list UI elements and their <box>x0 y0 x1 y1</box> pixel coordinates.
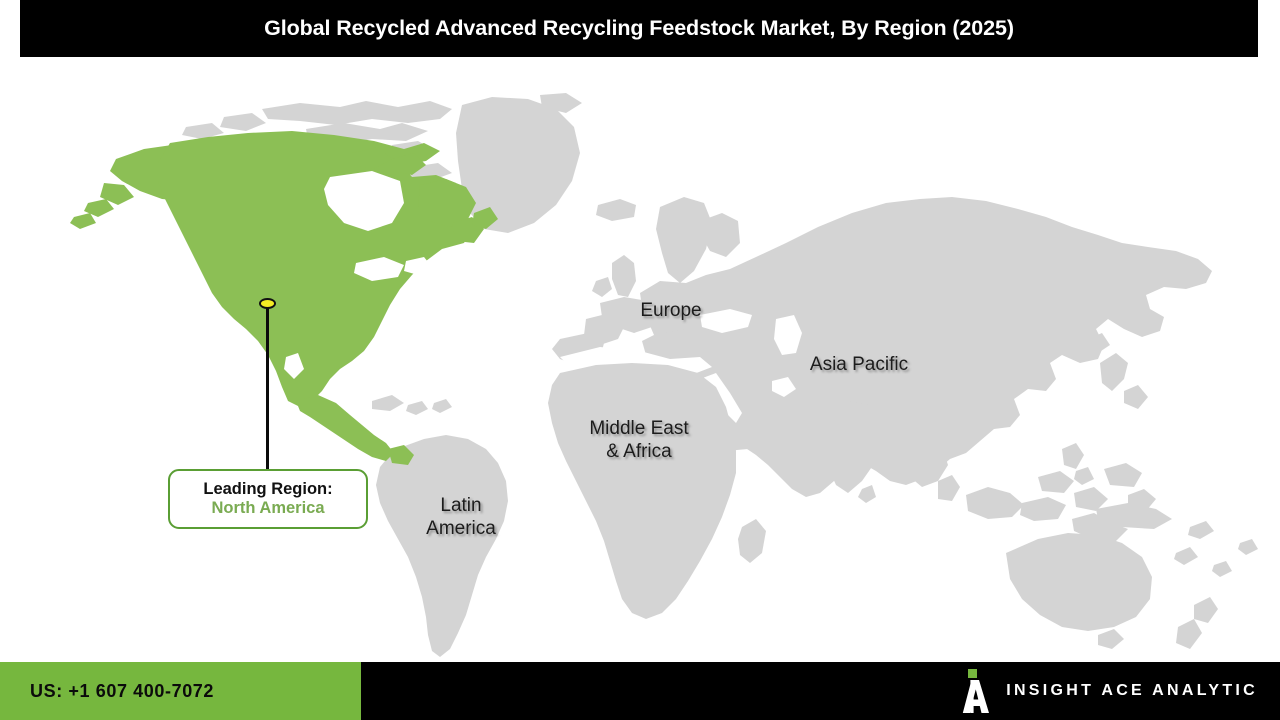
footer-phone-number: US: +1 607 400-7072 <box>30 681 214 702</box>
brand-name: INSIGHT ACE ANALYTIC <box>1006 682 1258 700</box>
page-title: Global Recycled Advanced Recycling Feeds… <box>264 16 1014 41</box>
map-pin-icon <box>259 298 276 309</box>
callout-value: North America <box>211 499 324 518</box>
logo-accent-square-icon <box>968 669 977 678</box>
title-bar: Global Recycled Advanced Recycling Feeds… <box>20 0 1258 57</box>
brand-lockup: INSIGHT ACE ANALYTIC <box>962 662 1258 720</box>
callout-connector-line <box>266 305 269 471</box>
callout-title: Leading Region: <box>203 480 332 499</box>
logo-a-glyph-icon <box>962 680 990 713</box>
world-map-container: Europe Asia Pacific Middle East & Africa… <box>0 57 1280 662</box>
footer-phone-panel[interactable]: US: +1 607 400-7072 <box>0 662 361 720</box>
letter-a-logo-icon <box>962 669 990 713</box>
world-map-graphic <box>0 57 1280 662</box>
footer-bar: US: +1 607 400-7072 INSIGHT ACE ANALYTIC <box>0 662 1280 720</box>
map-region-north-america-highlight[interactable] <box>70 131 498 465</box>
leading-region-callout[interactable]: Leading Region: North America <box>168 469 368 529</box>
